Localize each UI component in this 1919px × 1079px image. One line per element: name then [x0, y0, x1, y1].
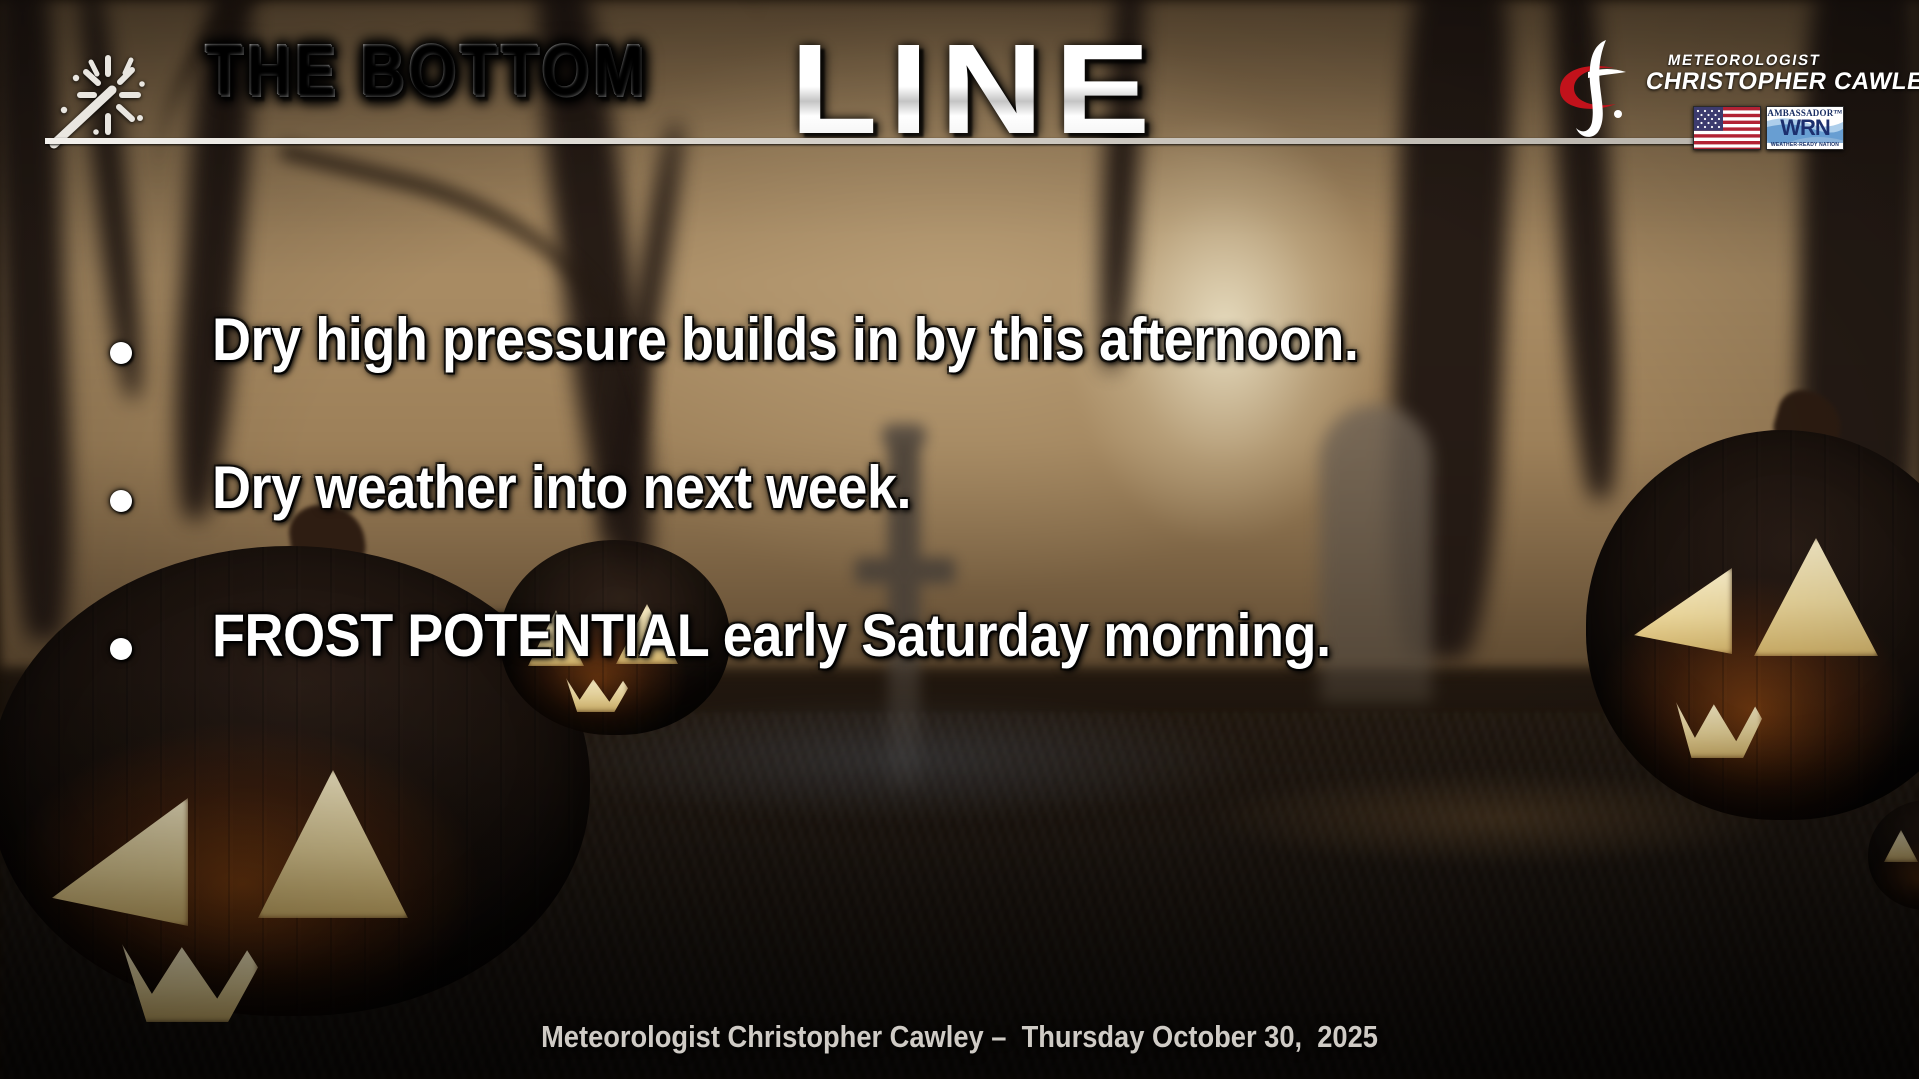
badge-row: AMBASSADOR™ WRN WEATHER-READY NATION [1693, 106, 1844, 150]
header-banner: THE BOTTOM LINE METEOROLOGIST CHRISTOPHE… [0, 0, 1919, 180]
bullet-text: Dry high pressure builds in by this afte… [212, 300, 1358, 380]
bullet-text: FROST POTENTIAL early Saturday morning. [212, 596, 1331, 676]
wrn-letters-label: WRN [1767, 116, 1843, 140]
brand-logo-block: METEOROLOGIST CHRISTOPHER CAWLEY [1548, 22, 1908, 152]
bullet-dot-icon [110, 638, 132, 660]
page-title-the-bottom: THE BOTTOM [205, 30, 648, 112]
bullet-text: Dry weather into next week. [212, 448, 911, 528]
us-flag-icon [1693, 106, 1761, 150]
brand-name-group: METEOROLOGIST CHRISTOPHER CAWLEY [1646, 52, 1896, 96]
list-item: Dry high pressure builds in by this afte… [0, 300, 1919, 448]
brand-person-name: CHRISTOPHER CAWLEY [1644, 68, 1898, 96]
header-divider [45, 138, 1722, 144]
list-item: FROST POTENTIAL early Saturday morning. [0, 596, 1919, 744]
footer-credit-line: Meteorologist Christopher Cawley – Thurs… [115, 1019, 1804, 1055]
cawley-c-swoosh-logo-icon [1548, 28, 1652, 146]
wrn-subtitle-label: WEATHER-READY NATION [1767, 142, 1843, 148]
bullet-dot-icon [110, 342, 132, 364]
brand-role-label: METEOROLOGIST [1645, 52, 1898, 69]
forecast-bullet-list: Dry high pressure builds in by this afte… [0, 300, 1919, 744]
wrn-ambassador-badge-icon: AMBASSADOR™ WRN WEATHER-READY NATION [1766, 106, 1844, 150]
list-item: Dry weather into next week. [0, 448, 1919, 596]
weather-graphic-slide: THE BOTTOM LINE METEOROLOGIST CHRISTOPHE… [0, 0, 1919, 1079]
bullet-dot-icon [110, 490, 132, 512]
